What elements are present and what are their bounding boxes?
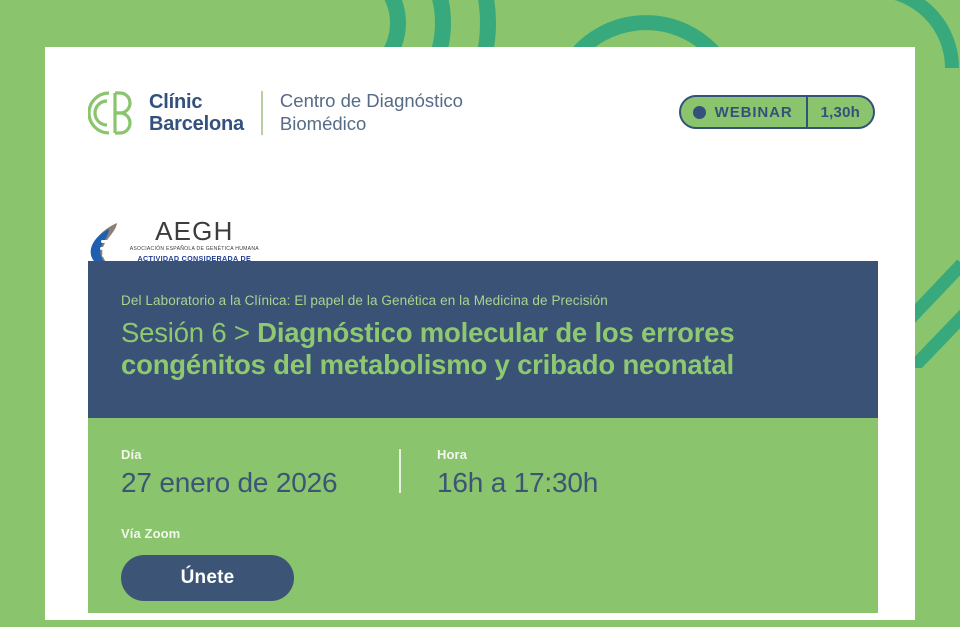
- webinar-badge-type: WEBINAR: [681, 97, 808, 127]
- brand-name-line1: Clínic: [149, 91, 244, 113]
- brand-subtitle-line1: Centro de Diagnóstico: [280, 90, 463, 113]
- event-details-panel: Día 27 enero de 2026 Hora 16h a 17:30h V…: [88, 418, 878, 613]
- poster-stage: Clínic Barcelona Centro de Diagnóstico B…: [0, 0, 960, 627]
- brand-subtitle: Centro de Diagnóstico Biomédico: [280, 90, 463, 135]
- session-number: Sesión 6 >: [121, 317, 257, 348]
- day-value: 27 enero de 2026: [121, 467, 399, 499]
- webinar-badge: WEBINAR 1,30h: [679, 95, 875, 129]
- channel-label: Vía Zoom: [121, 526, 845, 541]
- card-header: Clínic Barcelona Centro de Diagnóstico B…: [88, 88, 875, 150]
- time-block: Hora 16h a 17:30h: [401, 447, 598, 499]
- filled-circle-icon: [693, 106, 706, 119]
- brand-name-line2: Barcelona: [149, 113, 244, 135]
- brand-divider: [261, 91, 263, 135]
- details-row: Día 27 enero de 2026 Hora 16h a 17:30h: [121, 447, 845, 499]
- aegh-full-name: ASOCIACIÓN ESPAÑOLA DE GENÉTICA HUMANA: [130, 246, 259, 252]
- day-label: Día: [121, 447, 399, 462]
- time-value: 16h a 17:30h: [437, 467, 598, 499]
- clinic-barcelona-logo-icon: [88, 88, 136, 138]
- session-banner: Del Laboratorio a la Clínica: El papel d…: [88, 261, 878, 418]
- brand-lockup: Clínic Barcelona Centro de Diagnóstico B…: [88, 88, 463, 138]
- webinar-badge-label: WEBINAR: [715, 104, 793, 121]
- join-button[interactable]: Únete: [121, 555, 294, 601]
- brand-wordmark: Clínic Barcelona: [149, 91, 244, 135]
- aegh-acronym: AEGH: [155, 218, 233, 244]
- event-card: Clínic Barcelona Centro de Diagnóstico B…: [45, 47, 915, 620]
- webinar-badge-duration: 1,30h: [808, 97, 873, 127]
- day-block: Día 27 enero de 2026: [121, 447, 399, 499]
- time-label: Hora: [437, 447, 598, 462]
- brand-subtitle-line2: Biomédico: [280, 113, 463, 136]
- series-title: Del Laboratorio a la Clínica: El papel d…: [121, 293, 844, 308]
- session-title: Sesión 6 > Diagnóstico molecular de los …: [121, 317, 844, 381]
